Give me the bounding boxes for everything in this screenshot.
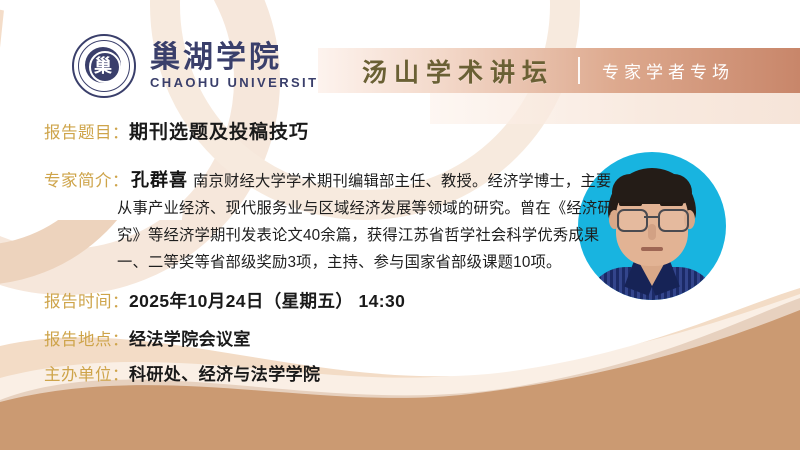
speaker-label: 专家简介： xyxy=(44,167,129,191)
time-label: 报告时间： xyxy=(44,288,129,312)
title-label: 报告题目： xyxy=(44,119,129,143)
field-time: 报告时间： 2025年10月24日（星期五） 14:30 xyxy=(44,288,405,313)
bio-line: 南京财经大学学术期刊编辑部主任、教授。经济学博士，主要 xyxy=(193,168,611,195)
bio-line: 一、二等奖等省部级奖励3项，主持、参与国家省部级课题10项。 xyxy=(117,249,544,276)
speaker-name: 孔群喜 xyxy=(131,166,188,192)
host-label: 主办单位： xyxy=(44,361,129,385)
field-host: 主办单位： 科研处、经济与法学学院 xyxy=(44,360,320,385)
title-value: 期刊选题及投稿技巧 xyxy=(129,117,309,144)
place-value: 经法学院会议室 xyxy=(129,325,251,350)
field-speaker-bio: 专家简介： 孔群喜 南京财经大学学术期刊编辑部主任、教授。经济学博士，主要 从事… xyxy=(44,166,544,276)
bio-line: 究》等经济学期刊发表论文40余篇，获得江苏省哲学社会科学优秀成果 xyxy=(117,222,544,249)
lecture-poster: 巢 巢湖学院 CHAOHU UNIVERSITY 汤山学术讲坛 专家学者专场 xyxy=(0,0,800,450)
field-place: 报告地点： 经法学院会议室 xyxy=(44,325,251,350)
place-label: 报告地点： xyxy=(44,326,129,350)
bio-line: 从事产业经济、现代服务业与区域经济发展等领域的研究。曾在《经济研 xyxy=(117,195,544,222)
host-value: 科研处、经济与法学学院 xyxy=(129,360,320,385)
field-title: 报告题目： 期刊选题及投稿技巧 xyxy=(44,117,309,144)
time-value: 2025年10月24日（星期五） 14:30 xyxy=(129,288,405,313)
